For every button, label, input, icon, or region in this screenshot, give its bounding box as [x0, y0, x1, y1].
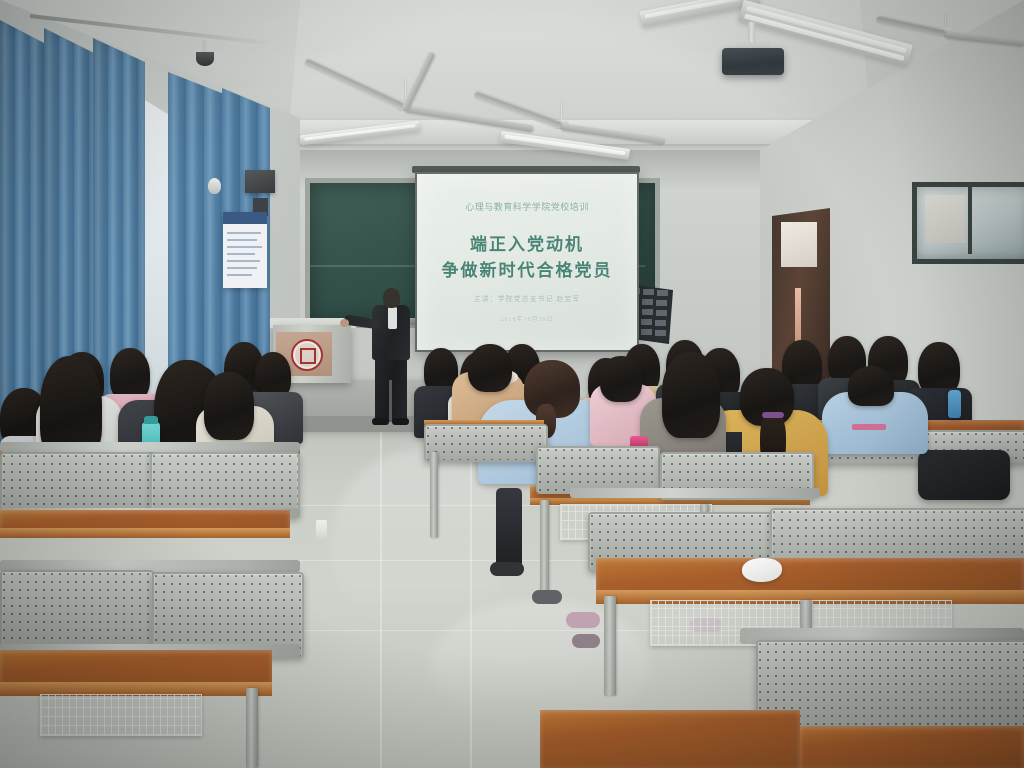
- seat-frame: [0, 442, 300, 452]
- university-seal-icon: [291, 339, 323, 371]
- lecturer-shoe: [392, 418, 409, 425]
- desk-leg: [430, 452, 438, 538]
- desk-front-edge: [0, 528, 290, 538]
- slide-date-text: 2018年10月30日: [417, 314, 637, 323]
- paper-cup-on-floor: [316, 520, 327, 540]
- white-tissue: [742, 558, 782, 582]
- student-head: [848, 366, 894, 406]
- student-shoe: [490, 562, 524, 576]
- grid-cell: [641, 319, 652, 325]
- slide-presenter-text: 主讲：学院党总支书记 赵宝军: [417, 294, 637, 304]
- grid-cell: [642, 299, 653, 305]
- poster-text-line: [227, 253, 255, 255]
- desk-leg: [604, 596, 616, 696]
- bottle-cap: [144, 416, 158, 424]
- student-shoe: [566, 612, 600, 628]
- grid-cell: [655, 330, 666, 336]
- poster-text-line: [227, 232, 261, 234]
- fan-rod: [560, 100, 563, 122]
- bench-seat-back: [424, 424, 548, 462]
- lecturer-head: [383, 288, 400, 308]
- student-shoe: [532, 590, 562, 604]
- student-desk: [540, 710, 800, 768]
- wall-speaker: [245, 170, 275, 193]
- classroom-notice-poster: [223, 212, 267, 288]
- grid-cell: [641, 329, 652, 335]
- grid-cell: [642, 309, 653, 315]
- grid-cell: [656, 300, 667, 306]
- bench-seat-back: [536, 446, 660, 494]
- desk-leg: [246, 688, 258, 768]
- hair-tie: [762, 412, 784, 418]
- slide-title-line2: 争做新时代合格党员: [417, 256, 637, 281]
- student-long-hair: [662, 352, 720, 438]
- hoodie-logo-text: [852, 424, 886, 430]
- student-long-hair: [468, 344, 512, 392]
- slide-header-text: 心理与教育科学学院党校培训: [417, 200, 637, 213]
- seat-frame: [570, 488, 820, 498]
- slide-title-line1: 端正入党动机: [417, 230, 637, 255]
- lecturer-shirt: [388, 307, 397, 329]
- poster-text-line: [227, 267, 257, 269]
- wire-storage-basket: [40, 694, 202, 736]
- blue-curtain: [0, 20, 46, 450]
- grid-cell: [657, 290, 668, 296]
- grid-cell: [656, 310, 667, 316]
- lecturer-hand: [340, 319, 349, 327]
- ceiling-projector: [722, 48, 784, 75]
- poster-text-line: [227, 274, 252, 276]
- door-glass-panel: [781, 222, 817, 267]
- projection-screen: 心理与教育科学学院党校培训 端正入党动机 争做新时代合格党员 主讲：学院党总支书…: [415, 172, 639, 352]
- security-camera-icon: [196, 52, 214, 66]
- wall-lamp: [208, 178, 221, 194]
- poster-text-line: [227, 239, 257, 241]
- grid-cell: [643, 289, 654, 295]
- classroom-photo: 心理与教育科学学院党校培训 端正入党动机 争做新时代合格党员 主讲：学院党总支书…: [0, 0, 1024, 768]
- student-desk: [800, 726, 1024, 768]
- lecturer-shoe: [372, 418, 389, 425]
- blue-water-bottle: [948, 390, 961, 418]
- desk-leg: [540, 500, 549, 592]
- grid-cell: [655, 320, 666, 326]
- student-leg: [496, 488, 522, 568]
- bench-seat-back: [0, 570, 154, 654]
- window-view-building: [925, 195, 965, 243]
- student-long-hair: [204, 372, 254, 440]
- poster-text-line: [227, 246, 262, 248]
- lecturer-leg-gap: [389, 380, 392, 422]
- student-shoe: [572, 634, 600, 648]
- student-head: [600, 356, 642, 402]
- poster-text-line: [227, 260, 260, 262]
- window-mullion: [968, 182, 972, 254]
- black-backpack: [918, 450, 1010, 500]
